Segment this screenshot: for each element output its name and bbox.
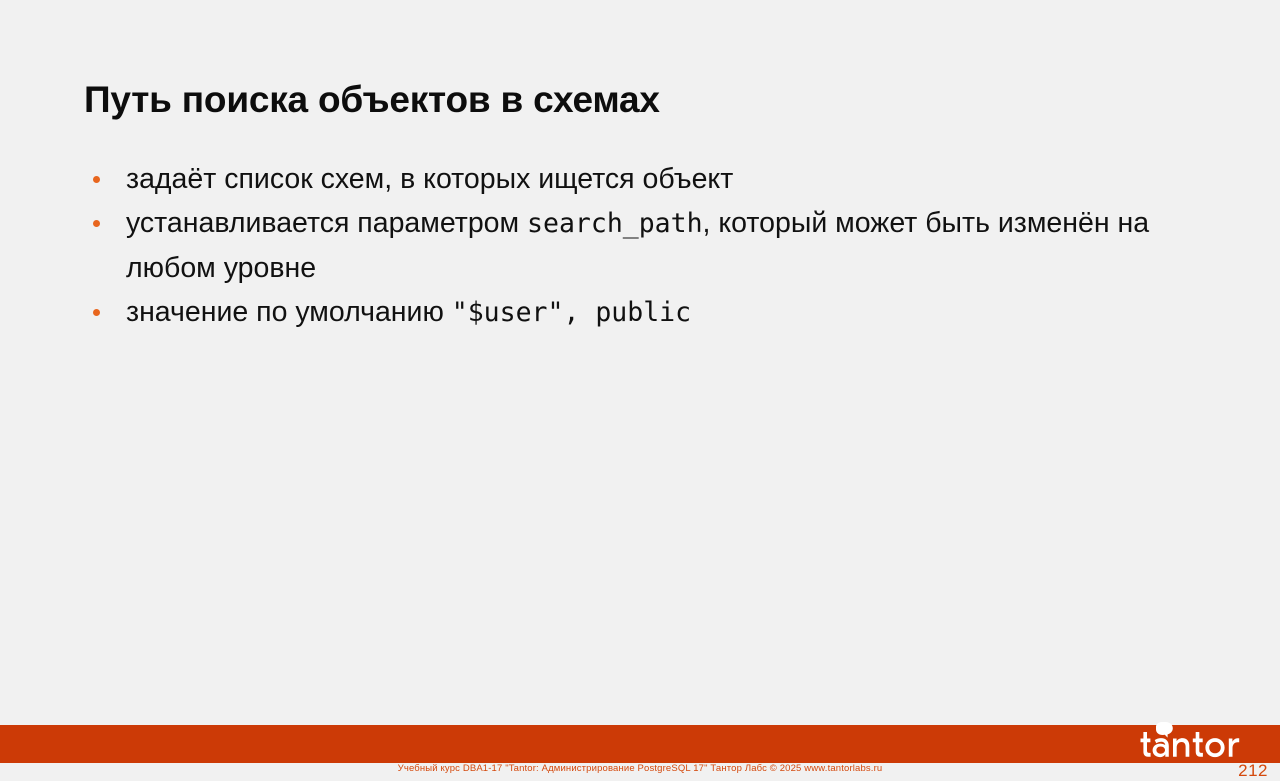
list-item: задаёт список схем, в которых ищется объ… — [84, 157, 1164, 201]
list-item-text-2-0: значение по умолчанию — [126, 296, 452, 328]
default-value-literal: "$user", public — [452, 297, 691, 328]
bullet-list: задаёт список схем, в которых ищется объ… — [84, 157, 1164, 335]
bullet-dot-icon — [93, 220, 100, 227]
tantor-logo — [1139, 722, 1265, 764]
list-item-text-1-0: устанавливается параметром — [126, 207, 527, 239]
bullet-dot-icon — [93, 309, 100, 316]
list-item: значение по умолчанию "$user", public — [84, 290, 1164, 335]
bullet-dot-icon — [93, 176, 100, 183]
page-number: 212 — [1238, 761, 1268, 781]
list-item-text-0-0: задаёт список схем, в которых ищется объ… — [126, 163, 733, 195]
page-title: Путь поиска объектов в схемах — [84, 79, 660, 122]
logo-wordmark — [1141, 732, 1240, 757]
list-item: устанавливается параметром search_path, … — [84, 201, 1164, 290]
footer-credit-text: Учебный курс DBA1-17 "Tantor: Администри… — [0, 763, 1280, 774]
slide-canvas: Путь поиска объектов в схемах задаёт спи… — [0, 0, 1280, 781]
parameter-name-search-path: search_path — [527, 208, 703, 239]
elephant-mark-icon — [1156, 722, 1173, 738]
footer-accent-bar — [0, 725, 1280, 763]
